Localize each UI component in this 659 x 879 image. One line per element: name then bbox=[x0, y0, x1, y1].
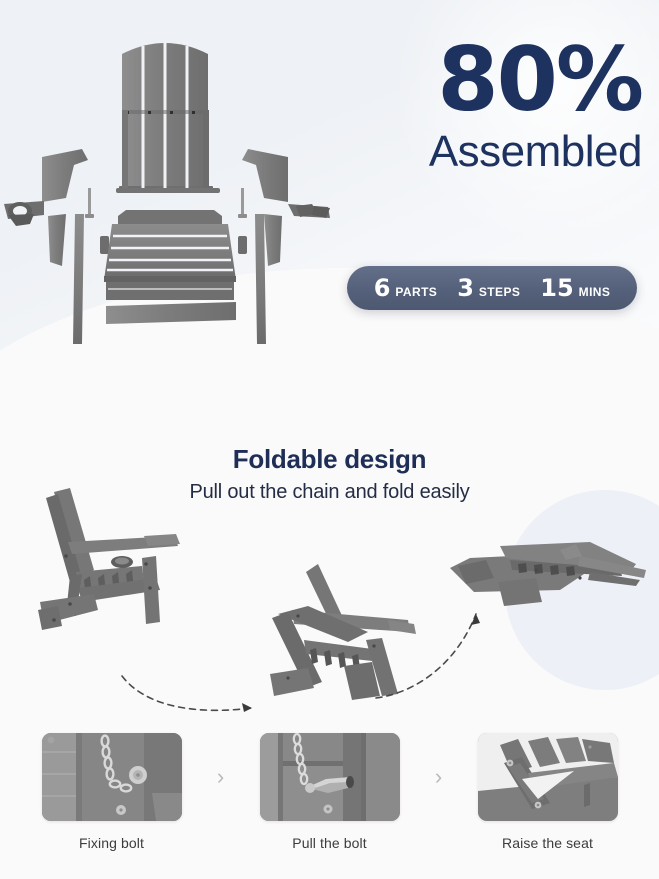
chevron-right-icon-1: › bbox=[198, 733, 244, 821]
fold-stage-1-unfolded bbox=[24, 484, 249, 674]
foldable-section: Foldable design Pull out the chain and f… bbox=[0, 372, 659, 727]
step-item-3: Raise the seat bbox=[462, 733, 634, 851]
assembled-label: Assembled bbox=[342, 128, 642, 176]
part-connector-right bbox=[238, 236, 247, 254]
spec-mins: 15 MINS bbox=[540, 276, 610, 300]
spec-steps-number: 3 bbox=[457, 276, 474, 300]
part-left-front-leg bbox=[48, 214, 66, 266]
fold-arrow-2 bbox=[372, 594, 512, 704]
spec-steps-unit: STEPS bbox=[479, 285, 520, 299]
part-backrest-slats bbox=[116, 40, 220, 193]
spec-parts-number: 6 bbox=[374, 276, 391, 300]
spec-parts: 6 PARTS bbox=[374, 276, 437, 300]
step-item-2: Pull the bolt bbox=[244, 733, 416, 851]
part-right-front-leg bbox=[264, 214, 282, 266]
step-thumbnail-row: Fixing bolt › bbox=[0, 733, 659, 851]
spec-mins-unit: MINS bbox=[579, 285, 611, 299]
spec-mins-number: 15 bbox=[540, 276, 573, 300]
foldable-title: Foldable design bbox=[0, 444, 659, 475]
step-1-photo bbox=[42, 733, 182, 821]
part-seat-assembly bbox=[104, 210, 236, 300]
step-3-caption: Raise the seat bbox=[502, 835, 593, 851]
part-left-cupholder bbox=[4, 201, 44, 226]
step-2-caption: Pull the bolt bbox=[292, 835, 366, 851]
part-bottom-rail bbox=[106, 302, 236, 324]
fold-arrow-1 bbox=[118, 670, 268, 716]
part-left-rear-leg bbox=[73, 214, 84, 344]
chevron-right-icon-2: › bbox=[416, 733, 462, 821]
steps-strip: Fixing bolt › bbox=[0, 727, 659, 879]
spec-steps: 3 STEPS bbox=[457, 276, 520, 300]
exploded-parts-illustration bbox=[0, 18, 340, 358]
step-item-1: Fixing bolt bbox=[26, 733, 198, 851]
hero-panel: 80% Assembled 6 PARTS 3 STEPS 15 MINS bbox=[0, 0, 659, 372]
infographic-page: 80% Assembled 6 PARTS 3 STEPS 15 MINS Fo… bbox=[0, 0, 659, 879]
spec-summary-badge: 6 PARTS 3 STEPS 15 MINS bbox=[347, 266, 637, 310]
part-right-rear-leg bbox=[255, 214, 266, 344]
step-2-photo bbox=[260, 733, 400, 821]
headline-block: 80% Assembled bbox=[342, 38, 642, 176]
part-connector-left bbox=[100, 236, 109, 254]
spec-parts-unit: PARTS bbox=[395, 285, 437, 299]
step-1-caption: Fixing bolt bbox=[79, 835, 144, 851]
part-right-cupholder bbox=[288, 204, 330, 218]
assembled-percent: 80% bbox=[342, 38, 642, 122]
step-3-photo bbox=[478, 733, 618, 821]
part-right-armrest bbox=[242, 149, 288, 202]
part-left-armrest bbox=[42, 149, 88, 202]
